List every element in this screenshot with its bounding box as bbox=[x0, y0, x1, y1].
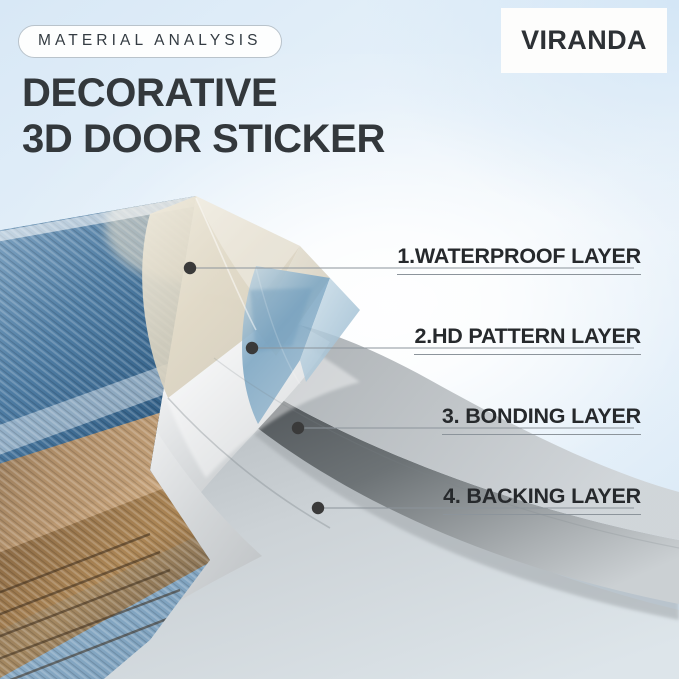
layer-label-backing-text: 4. BACKING LAYER bbox=[443, 484, 641, 508]
layer-label-backing: 4. BACKING LAYER bbox=[443, 486, 641, 515]
layer-label-bonding-text: 3. BONDING LAYER bbox=[442, 404, 641, 428]
layer-label-waterproof: 1.WATERPROOF LAYER bbox=[397, 246, 641, 275]
title-line-1: DECORATIVE bbox=[22, 71, 277, 115]
layer-label-waterproof-text: 1.WATERPROOF LAYER bbox=[397, 244, 641, 268]
page-title: DECORATIVE 3D DOOR STICKER bbox=[22, 70, 385, 163]
layer-label-hd-pattern: 2.HD PATTERN LAYER bbox=[414, 326, 641, 355]
layer-label-bonding-rule bbox=[442, 434, 641, 435]
brand-name: VIRANDA bbox=[521, 25, 647, 56]
title-line-2: 3D DOOR STICKER bbox=[22, 116, 385, 162]
layer-label-waterproof-rule bbox=[397, 274, 641, 275]
layer-label-backing-rule bbox=[443, 514, 641, 515]
layer-label-bonding: 3. BONDING LAYER bbox=[442, 406, 641, 435]
layer-label-hd-pattern-rule bbox=[414, 354, 641, 355]
material-analysis-badge: MATERIAL ANALYSIS bbox=[18, 25, 282, 58]
layer-label-hd-pattern-text: 2.HD PATTERN LAYER bbox=[414, 324, 641, 348]
brand-logo-panel: VIRANDA bbox=[501, 8, 667, 73]
infographic-poster: MATERIAL ANALYSIS DECORATIVE 3D DOOR STI… bbox=[0, 0, 679, 679]
